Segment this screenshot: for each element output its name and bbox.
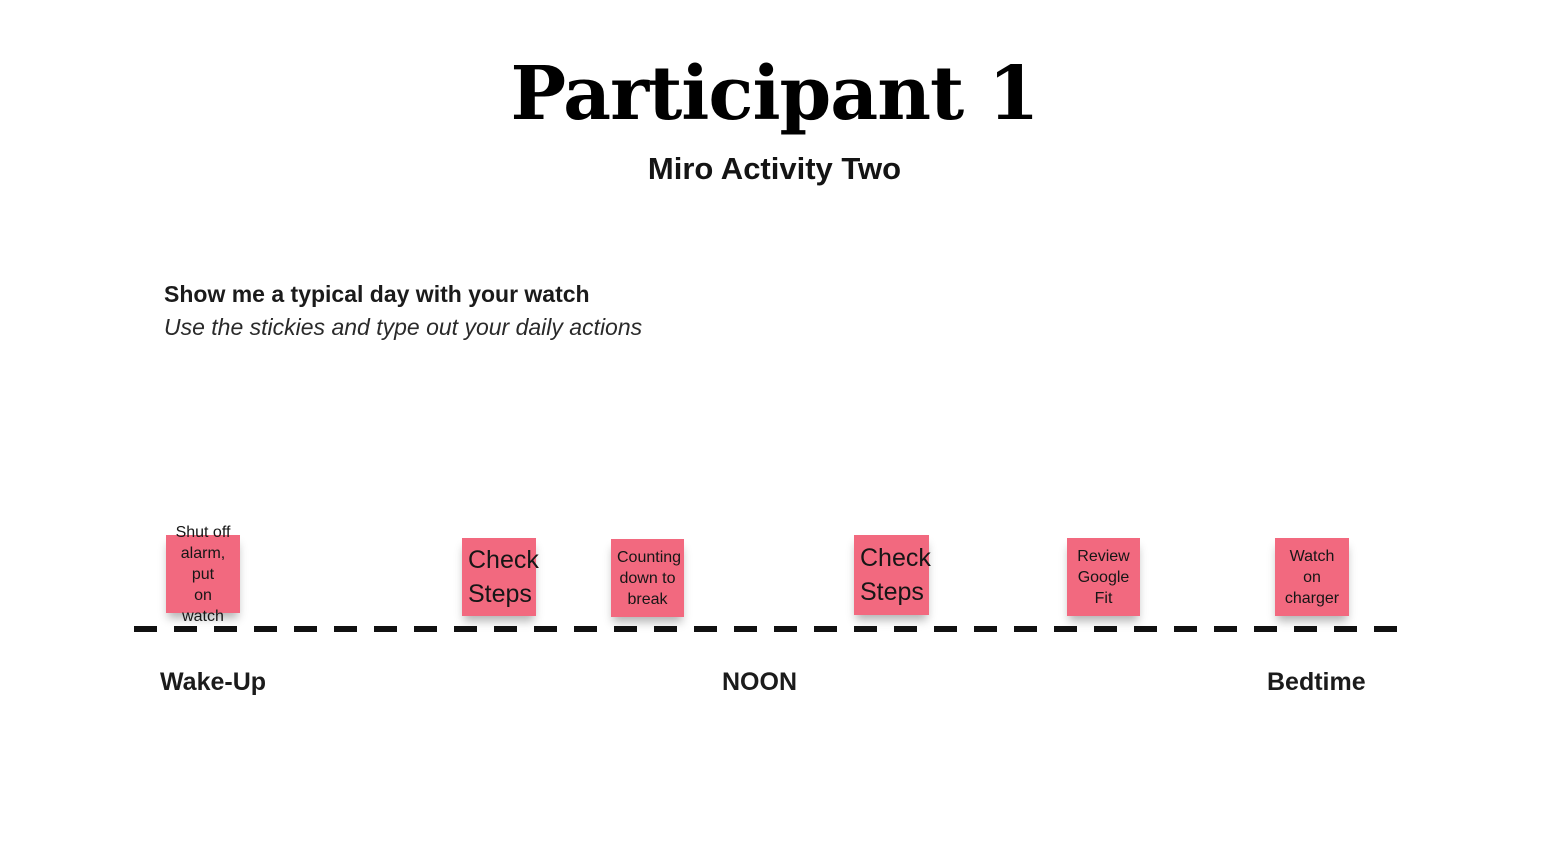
timeline-anchor-label: Wake-Up bbox=[160, 666, 266, 698]
sticky-note-text: Counting down to break bbox=[617, 547, 678, 610]
sticky-note[interactable]: Review Google Fit bbox=[1067, 538, 1140, 616]
sticky-note[interactable]: Watch on charger bbox=[1275, 538, 1349, 616]
sticky-note-text: Review Google Fit bbox=[1073, 546, 1134, 609]
timeline-dashed-line bbox=[134, 626, 1406, 632]
sticky-note-text: Check Steps bbox=[860, 541, 923, 609]
timeline-anchor-label: Bedtime bbox=[1267, 666, 1366, 698]
sticky-note-text: Shut off alarm, put on watch bbox=[172, 522, 234, 627]
sticky-note[interactable]: Shut off alarm, put on watch bbox=[166, 535, 240, 613]
timeline-anchor-label: NOON bbox=[722, 666, 797, 698]
sticky-note[interactable]: Check Steps bbox=[854, 535, 929, 615]
sticky-note-text: Check Steps bbox=[468, 543, 530, 611]
sticky-note[interactable]: Counting down to break bbox=[611, 539, 684, 617]
timeline: Shut off alarm, put on watchCheck StepsC… bbox=[0, 0, 1549, 854]
sticky-note[interactable]: Check Steps bbox=[462, 538, 536, 616]
sticky-note-text: Watch on charger bbox=[1281, 546, 1343, 609]
